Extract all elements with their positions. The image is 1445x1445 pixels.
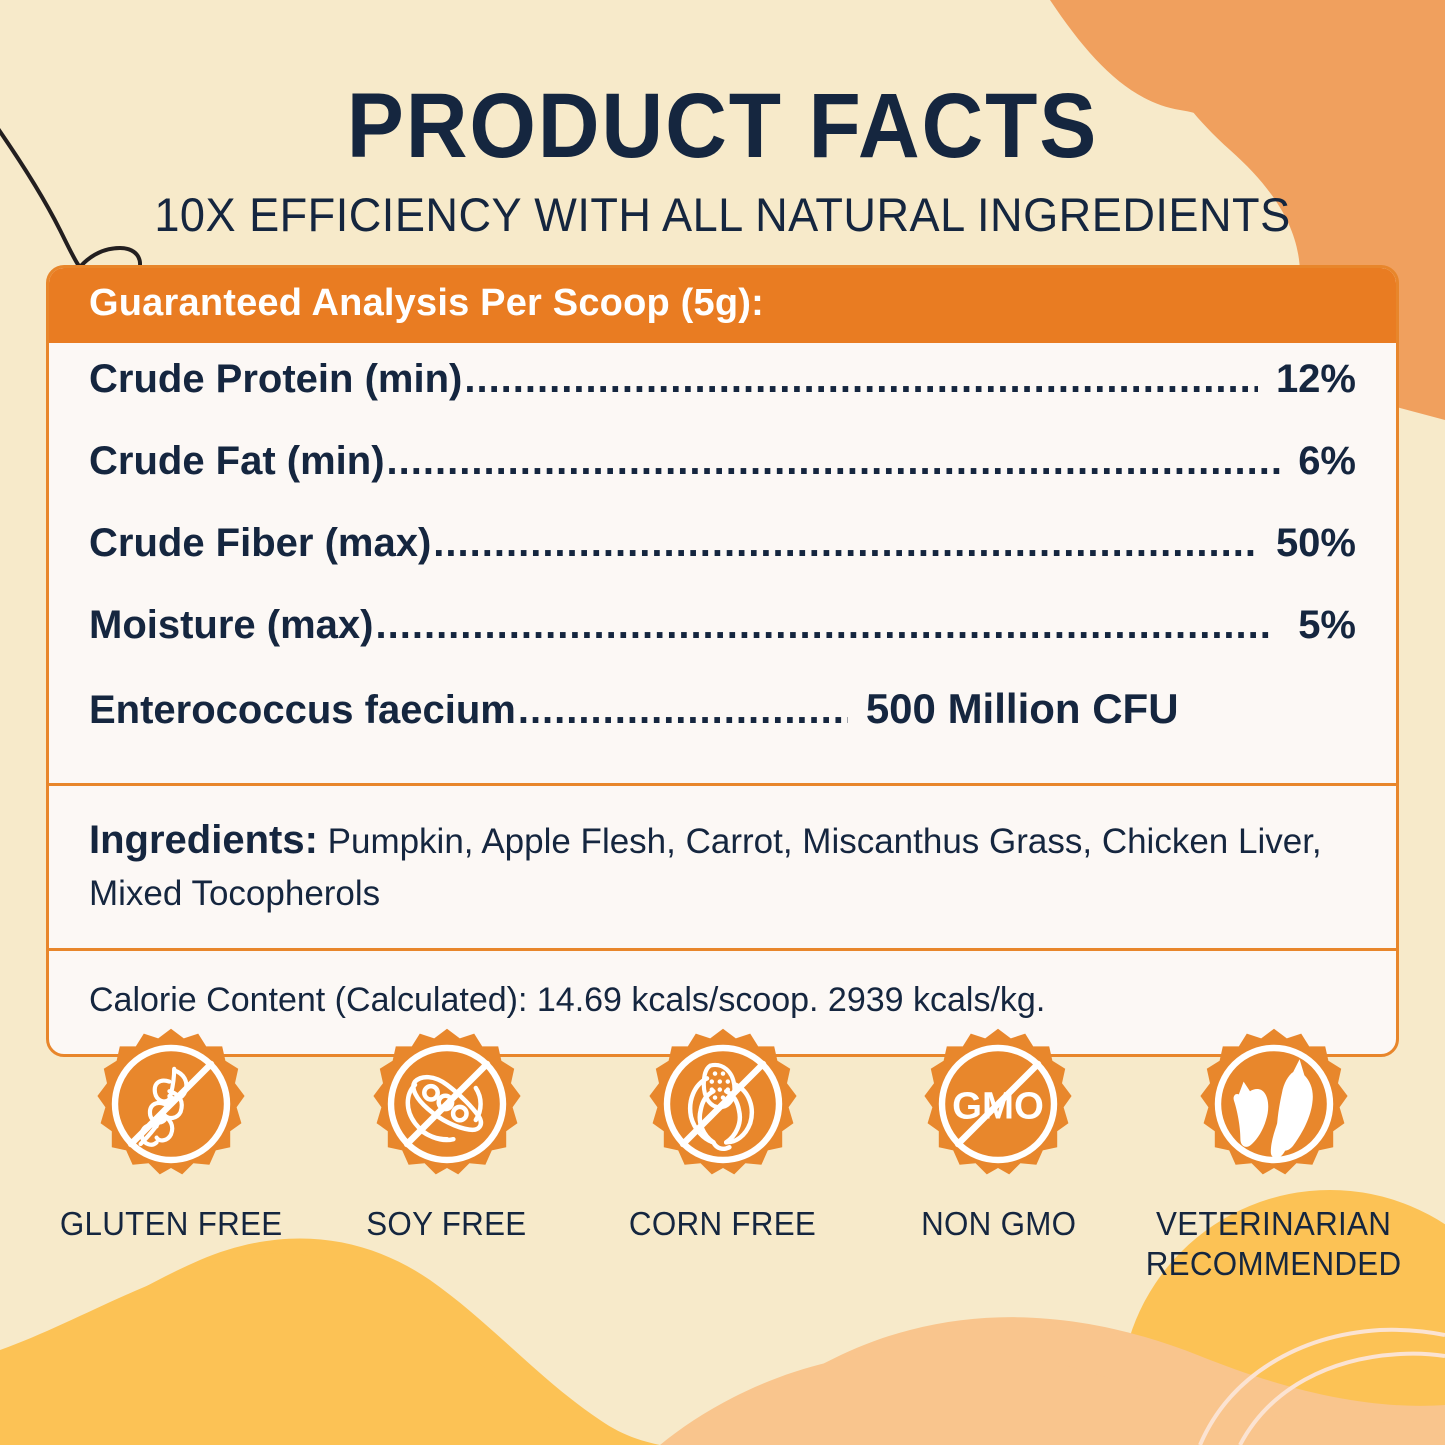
nutrient-label: Moisture (max): [89, 603, 374, 648]
nutrient-value: 500 Million CFU: [850, 685, 1179, 733]
table-row: Moisture (max) .........................…: [89, 603, 1356, 685]
bottom-right-peach-wave: [700, 1317, 1445, 1445]
nutrient-value: 5%: [1282, 603, 1356, 648]
badge-corn-free: CORN FREE: [598, 1024, 848, 1244]
decorative-arc-1: [1200, 1330, 1445, 1445]
nutrient-label: Crude Protein (min): [89, 357, 462, 402]
table-row: Crude Fat (min) ........................…: [89, 439, 1356, 521]
ingredients-section: Ingredients: Pumpkin, Apple Flesh, Carro…: [49, 786, 1396, 942]
soybean-no-icon: [367, 1024, 527, 1184]
nutrient-value: 50%: [1260, 521, 1356, 566]
nutrient-label: Crude Fiber (max): [89, 521, 431, 566]
cat-dog-icon: [1194, 1024, 1354, 1184]
dot-leader: ........................................…: [376, 603, 1281, 648]
badge-soy-free: SOY FREE: [322, 1024, 572, 1244]
product-facts-infographic: PRODUCT FACTS 10X EFFICIENCY WITH ALL NA…: [0, 0, 1445, 1445]
certification-badges: GLUTEN FREE SOY FREE: [46, 1024, 1399, 1285]
nutrient-label: Enterococcus faecium: [89, 688, 516, 733]
nutrient-value: 12%: [1260, 357, 1356, 402]
wheat-no-icon: [91, 1024, 251, 1184]
ingredients-label: Ingredients:: [89, 818, 318, 862]
corn-no-icon: [643, 1024, 803, 1184]
badge-label: SOY FREE: [367, 1204, 527, 1244]
product-facts-card: Guaranteed Analysis Per Scoop (5g): Crud…: [46, 265, 1399, 1057]
analysis-table: Crude Protein (min) ....................…: [49, 343, 1396, 777]
page-header: PRODUCT FACTS 10X EFFICIENCY WITH ALL NA…: [0, 0, 1445, 242]
table-row: Crude Protein (min) ....................…: [89, 357, 1356, 439]
badge-label: CORN FREE: [629, 1204, 816, 1244]
dot-leader: ........................................…: [433, 521, 1258, 566]
badge-veterinarian-recommended: VETERINARIAN RECOMMENDED: [1149, 1024, 1399, 1285]
dot-leader: ........................................…: [464, 357, 1258, 402]
gmo-no-icon: GMO: [918, 1024, 1078, 1184]
decorative-arc-2: [1240, 1354, 1445, 1445]
page-title: PRODUCT FACTS: [51, 0, 1395, 175]
dot-leader: ........................................…: [387, 439, 1281, 484]
page-subtitle: 10X EFFICIENCY WITH ALL NATURAL INGREDIE…: [29, 175, 1416, 242]
dot-leader: ...................................: [518, 688, 848, 733]
section-title: Guaranteed Analysis Per Scoop (5g):: [89, 282, 1356, 325]
table-row: Enterococcus faecium ...................…: [89, 685, 1356, 767]
badge-label: GLUTEN FREE: [60, 1204, 283, 1244]
nutrient-label: Crude Fat (min): [89, 439, 385, 484]
bottom-right-peach-wave-2: [660, 1349, 1445, 1445]
gmo-text: GMO: [952, 1084, 1044, 1127]
badge-label: NON GMO: [921, 1204, 1076, 1244]
badge-non-gmo: GMO NON GMO: [873, 1024, 1123, 1244]
badge-label: VETERINARIAN RECOMMENDED: [1146, 1204, 1402, 1285]
nutrient-value: 6%: [1282, 439, 1356, 484]
badge-gluten-free: GLUTEN FREE: [46, 1024, 296, 1244]
guaranteed-analysis-header: Guaranteed Analysis Per Scoop (5g):: [49, 268, 1396, 343]
table-row: Crude Fiber (max) ......................…: [89, 521, 1356, 603]
